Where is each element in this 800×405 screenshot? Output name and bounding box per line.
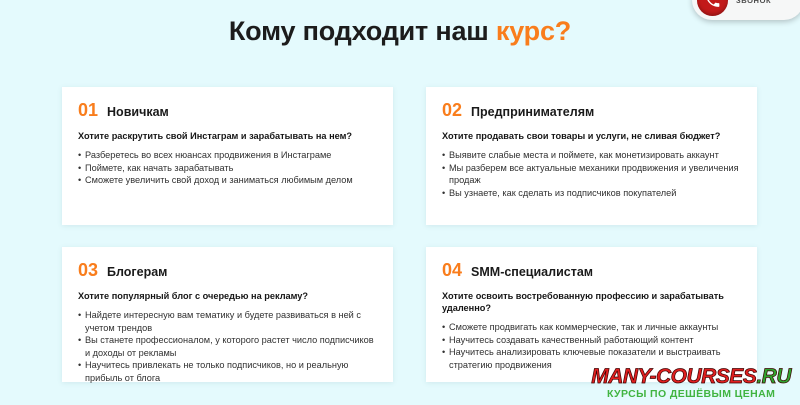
list-item: Найдете интересную вам тематику и будете… — [78, 309, 377, 334]
card-subtitle: Хотите популярный блог с очередью на рек… — [78, 290, 377, 302]
list-item: Мы разберем все актуальные механики прод… — [442, 162, 741, 187]
card-benefit-list: Выявите слабые места и поймете, как моне… — [442, 149, 741, 199]
list-item: Выявите слабые места и поймете, как моне… — [442, 149, 741, 162]
audience-card-01[interactable]: 01 Новичкам Хотите раскрутить свой Инста… — [62, 87, 393, 225]
card-header: 03 Блогерам — [78, 261, 377, 279]
audience-card-04[interactable]: 04 SMM-специалистам Хотите освоить востр… — [426, 247, 757, 382]
card-subtitle: Хотите продавать свои товары и услуги, н… — [442, 130, 741, 142]
card-title: Новичкам — [107, 106, 169, 119]
watermark-tagline: КУРСЫ ПО ДЕШЁВЫМ ЦЕНАМ — [591, 389, 791, 400]
card-benefit-list: Разберетесь во всех нюансах продвижения … — [78, 149, 377, 187]
card-header: 04 SMM-специалистам — [442, 261, 741, 279]
page-title: Кому подходит наш курс? — [0, 16, 800, 47]
list-item: Разберетесь во всех нюансах продвижения … — [78, 149, 377, 162]
list-item: Научитесь привлекать не только подписчик… — [78, 359, 377, 384]
card-benefit-list: Найдете интересную вам тематику и будете… — [78, 309, 377, 384]
call-widget-label: ЗВОНОК — [736, 0, 771, 5]
watermark-tld: .RU — [756, 365, 791, 388]
audience-card-grid: 01 Новичкам Хотите раскрутить свой Инста… — [62, 87, 757, 382]
page-root: ЗВОНОК Кому подходит наш курс? 01 Новичк… — [0, 0, 800, 405]
card-number: 01 — [78, 101, 98, 119]
card-subtitle: Хотите раскрутить свой Инстаграм и зараб… — [78, 130, 377, 142]
site-watermark: MANY-COURSES.RU КУРСЫ ПО ДЕШЁВЫМ ЦЕНАМ — [591, 366, 791, 400]
page-title-accent: курс? — [496, 16, 571, 46]
card-number: 03 — [78, 261, 98, 279]
page-title-main: Кому подходит наш — [229, 16, 496, 46]
list-item: Сможете продвигать как коммерческие, так… — [442, 321, 741, 334]
card-title: Блогерам — [107, 266, 167, 279]
card-number: 04 — [442, 261, 462, 279]
list-item: Научитесь создавать качественный работаю… — [442, 334, 741, 347]
list-item: Вы станете профессионалом, у которого ра… — [78, 334, 377, 359]
card-subtitle: Хотите освоить востребованную профессию … — [442, 290, 741, 314]
list-item: Вы узнаете, как сделать из подписчиков п… — [442, 187, 741, 200]
card-number: 02 — [442, 101, 462, 119]
call-button[interactable] — [697, 0, 728, 16]
card-title: Предпринимателям — [471, 106, 594, 119]
audience-card-03[interactable]: 03 Блогерам Хотите популярный блог с оче… — [62, 247, 393, 382]
card-header: 02 Предпринимателям — [442, 101, 741, 119]
watermark-name: MANY-COURSES — [591, 365, 756, 388]
list-item: Поймете, как начать зарабатывать — [78, 162, 377, 175]
audience-card-02[interactable]: 02 Предпринимателям Хотите продавать сво… — [426, 87, 757, 225]
phone-icon — [704, 0, 721, 9]
card-header: 01 Новичкам — [78, 101, 377, 119]
list-item: Сможете увеличить свой доход и заниматьс… — [78, 174, 377, 187]
watermark-domain: MANY-COURSES.RU — [591, 366, 791, 387]
card-title: SMM-специалистам — [471, 266, 593, 279]
